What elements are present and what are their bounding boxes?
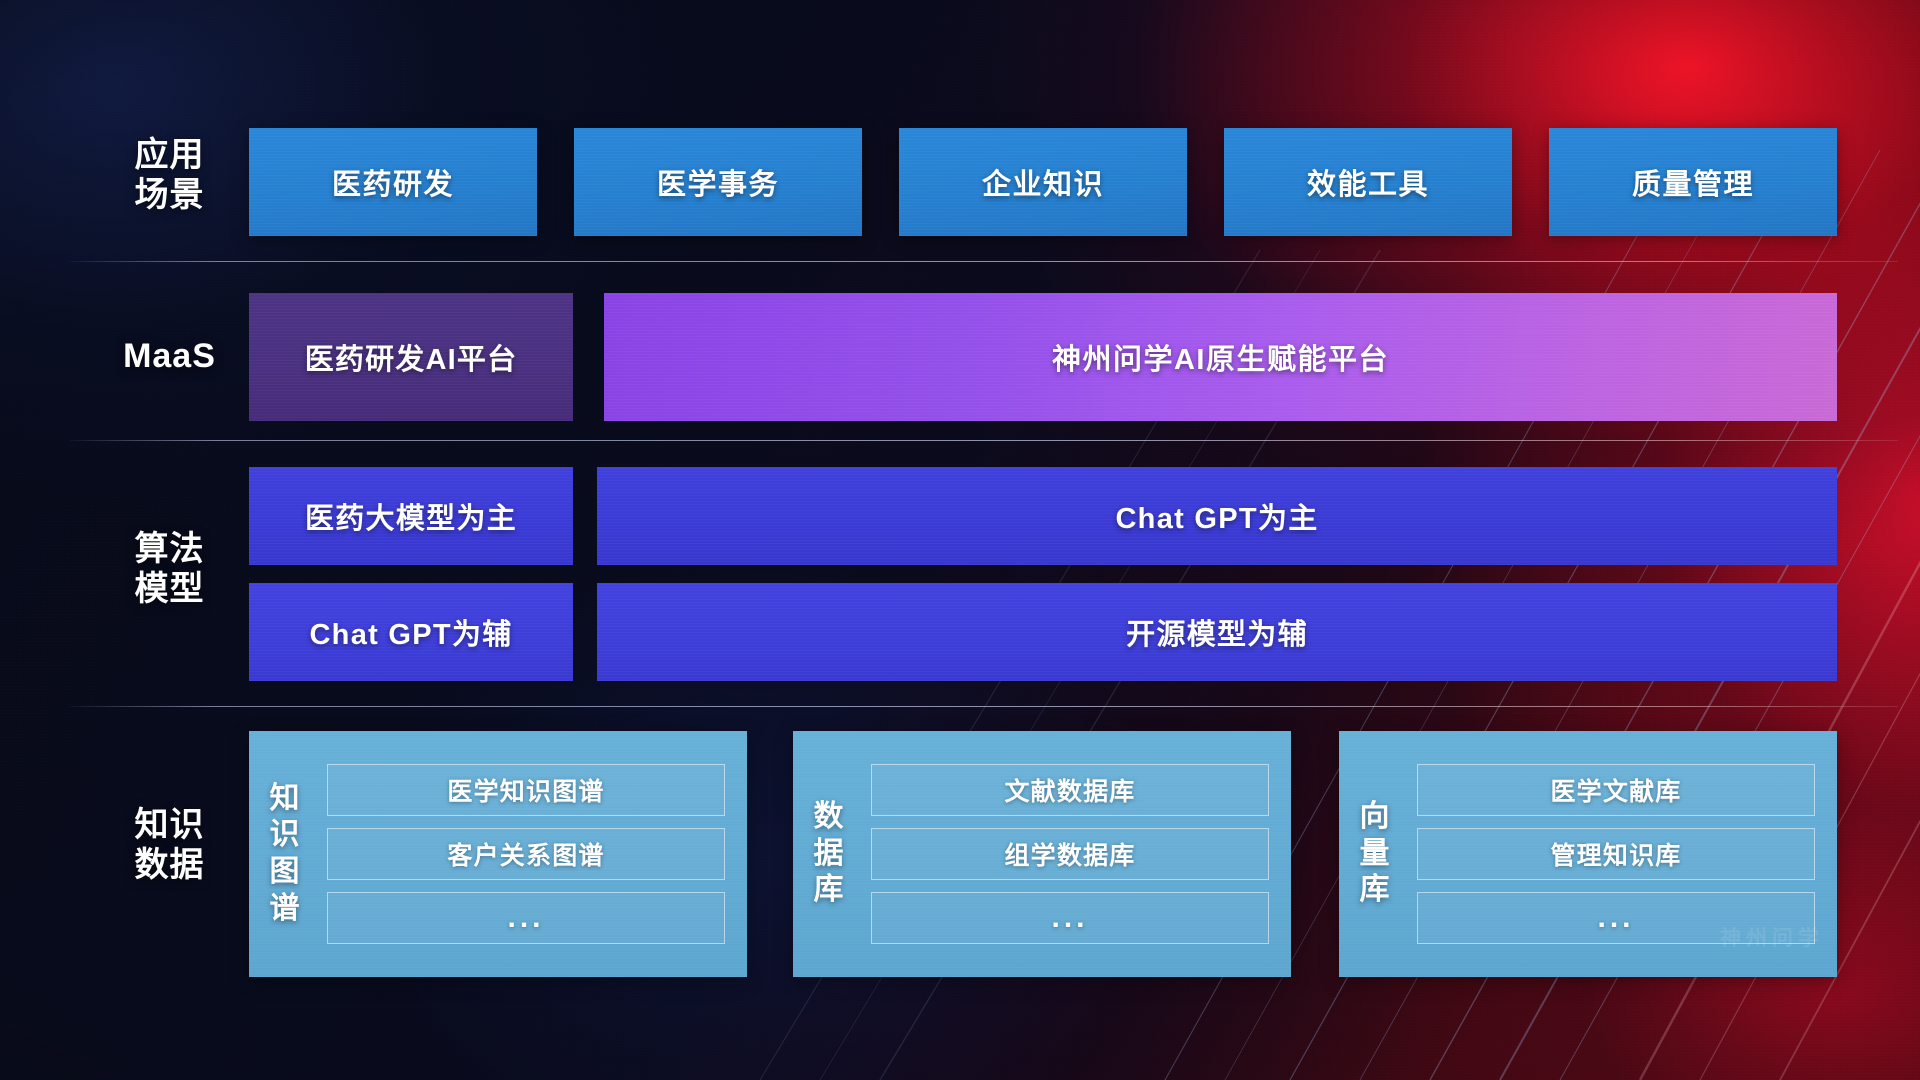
maas-card-pharma-ai-platform[interactable]: 医药研发AI平台: [249, 293, 573, 421]
row-label-line-1: 应用: [82, 135, 257, 175]
maas-card-label: 医药研发AI平台: [305, 336, 518, 378]
row-label-line-1: 知识: [82, 805, 257, 845]
vlabel-char: 数: [814, 799, 845, 836]
knowledge-panel-knowledge-graph[interactable]: 知 识 图 谱 医学知识图谱 客户关系图谱 ...: [249, 731, 747, 977]
app-card-medicine-rnd[interactable]: 医药研发: [249, 128, 537, 236]
app-card-label: 企业知识: [982, 161, 1104, 203]
divider-3: [70, 706, 1898, 707]
app-card-efficiency-tools[interactable]: 效能工具: [1224, 128, 1512, 236]
vlabel-char: 谱: [270, 891, 301, 928]
app-card-label: 医学事务: [657, 161, 779, 203]
algo-card-opensource-secondary[interactable]: 开源模型为辅: [597, 583, 1837, 681]
divider-1: [70, 261, 1898, 262]
algo-card-label: Chat GPT为主: [1115, 495, 1318, 537]
maas-card-label: 神州问学AI原生赋能平台: [1052, 336, 1389, 378]
row-label-line-2: 数据: [82, 845, 257, 885]
app-card-enterprise-knowledge[interactable]: 企业知识: [899, 128, 1187, 236]
divider-2: [70, 440, 1898, 441]
algo-card-label: 开源模型为辅: [1126, 611, 1308, 653]
knowledge-panel-items: 文献数据库 组学数据库 ...: [865, 731, 1291, 977]
knowledge-item[interactable]: 组学数据库: [871, 828, 1269, 880]
architecture-diagram: 应用 场景 医药研发 医学事务 企业知识 效能工具 质量管理 MaaS 医药研发…: [0, 0, 1920, 1080]
vlabel-char: 向: [1360, 799, 1391, 836]
algo-card-label: Chat GPT为辅: [309, 611, 512, 653]
app-card-label: 效能工具: [1307, 161, 1429, 203]
vlabel-char: 量: [1360, 836, 1391, 873]
row-label-algorithm-models: 算法 模型: [82, 529, 257, 609]
vlabel-char: 知: [270, 781, 301, 818]
app-card-label: 质量管理: [1632, 161, 1754, 203]
knowledge-item[interactable]: 文献数据库: [871, 764, 1269, 816]
algo-card-chatgpt-secondary[interactable]: Chat GPT为辅: [249, 583, 573, 681]
knowledge-panel-vertical-label: 向 量 库: [1339, 731, 1411, 977]
vlabel-char: 图: [270, 854, 301, 891]
watermark: 神州问学: [1720, 922, 1824, 952]
row-label-maas: MaaS: [82, 336, 257, 376]
row-label-knowledge-data: 知识 数据: [82, 805, 257, 885]
knowledge-panel-vertical-label: 数 据 库: [793, 731, 865, 977]
knowledge-panel-database[interactable]: 数 据 库 文献数据库 组学数据库 ...: [793, 731, 1291, 977]
knowledge-item[interactable]: 管理知识库: [1417, 828, 1815, 880]
row-label-line-2: 模型: [82, 569, 257, 609]
row-label-line-2: 场景: [82, 175, 257, 215]
vlabel-char: 识: [270, 817, 301, 854]
vlabel-char: 库: [1360, 872, 1391, 909]
app-card-quality-management[interactable]: 质量管理: [1549, 128, 1837, 236]
knowledge-item[interactable]: 医学知识图谱: [327, 764, 725, 816]
knowledge-item-more[interactable]: ...: [327, 892, 725, 944]
vlabel-char: 库: [814, 872, 845, 909]
maas-card-shenzhou-wenxue-platform[interactable]: 神州问学AI原生赋能平台: [604, 293, 1837, 421]
row-label-line-1: 算法: [82, 529, 257, 569]
row-label-application-scenarios: 应用 场景: [82, 135, 257, 215]
row-label-line-1: MaaS: [82, 336, 257, 376]
knowledge-item[interactable]: 客户关系图谱: [327, 828, 725, 880]
app-card-medical-affairs[interactable]: 医学事务: [574, 128, 862, 236]
knowledge-panel-items: 医学知识图谱 客户关系图谱 ...: [321, 731, 747, 977]
app-card-label: 医药研发: [332, 161, 454, 203]
knowledge-item[interactable]: 医学文献库: [1417, 764, 1815, 816]
vlabel-char: 据: [814, 836, 845, 873]
algo-card-chatgpt-primary[interactable]: Chat GPT为主: [597, 467, 1837, 565]
algo-card-label: 医药大模型为主: [305, 495, 517, 537]
knowledge-item-more[interactable]: ...: [871, 892, 1269, 944]
algo-card-pharma-llm-primary[interactable]: 医药大模型为主: [249, 467, 573, 565]
knowledge-panel-vertical-label: 知 识 图 谱: [249, 731, 321, 977]
